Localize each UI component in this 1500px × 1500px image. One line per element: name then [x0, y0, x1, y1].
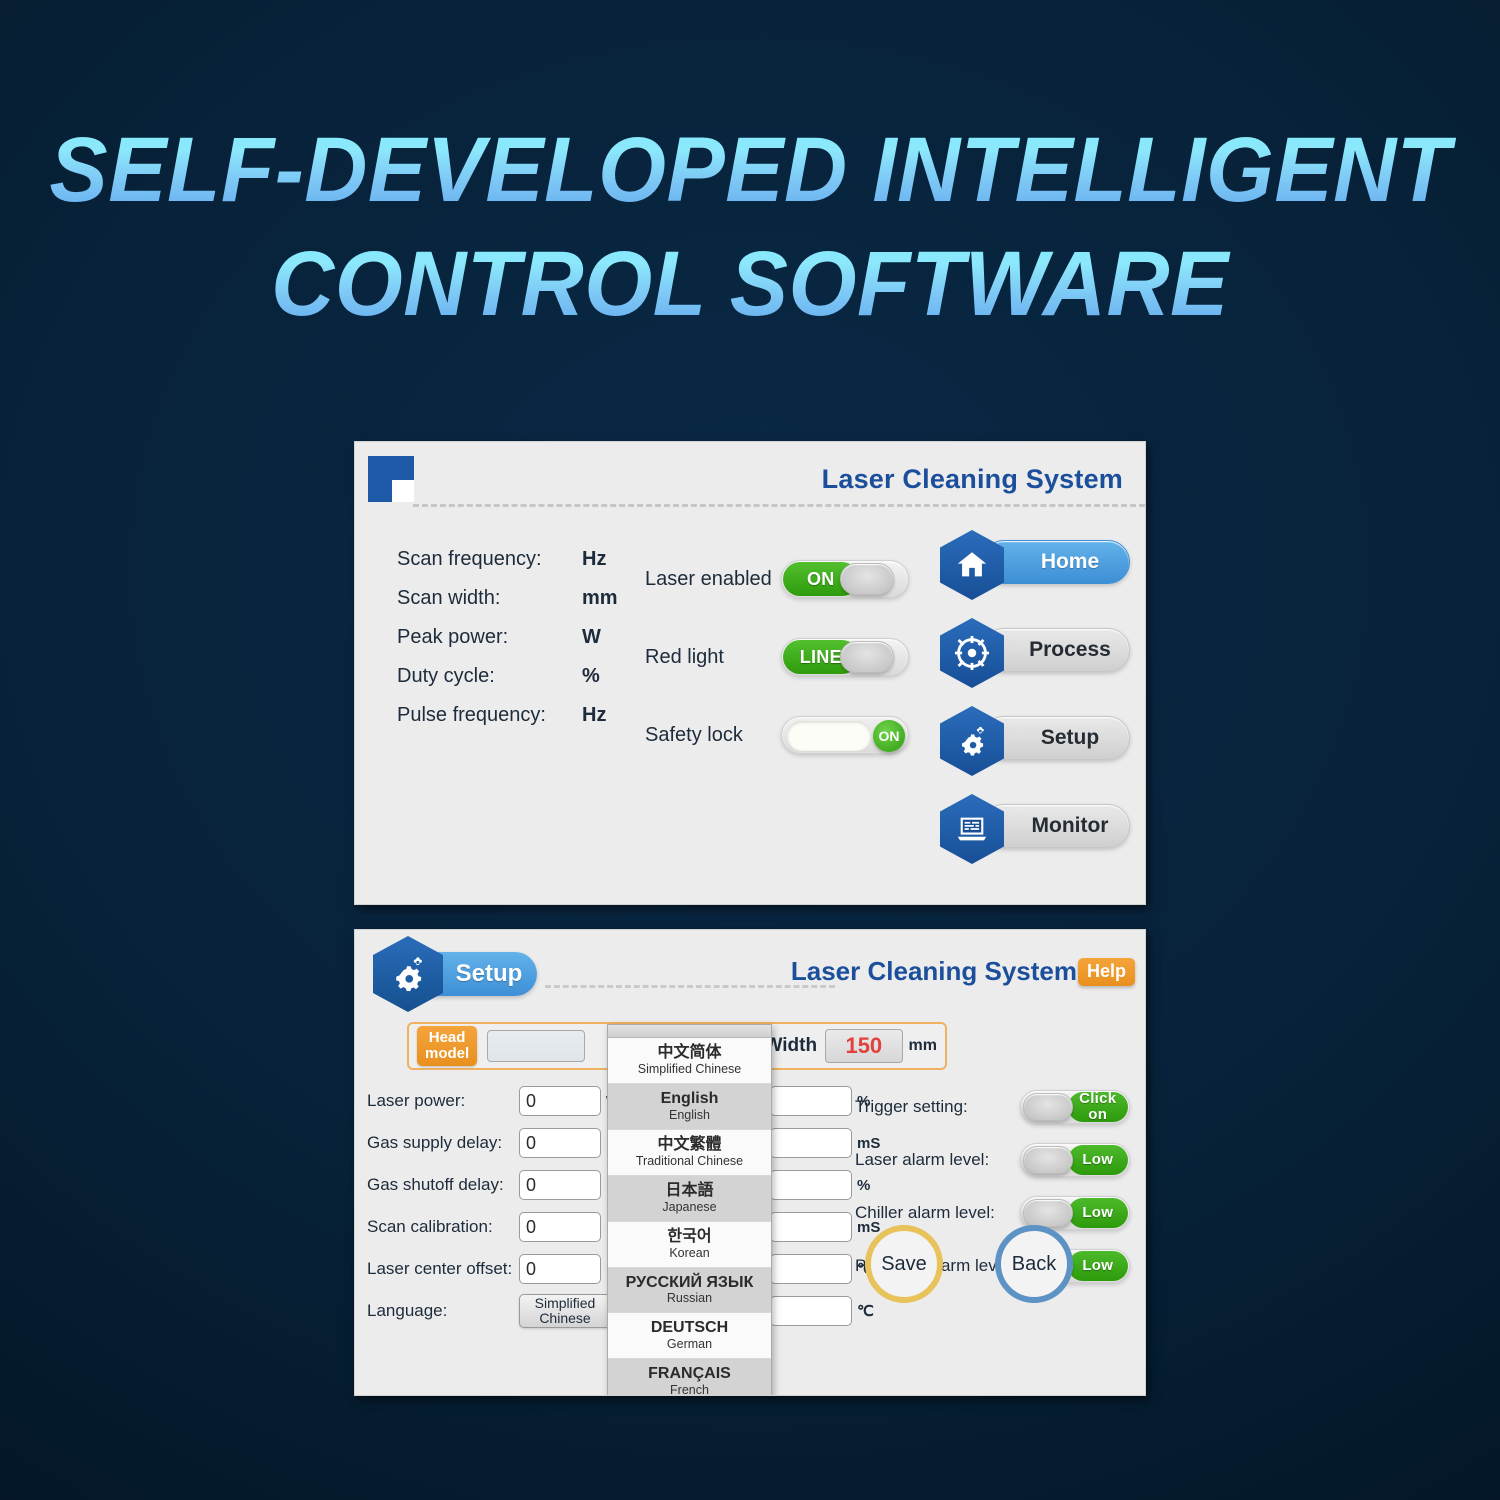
header-divider — [413, 504, 1145, 507]
main-menu: Home Process Setup — [940, 530, 1130, 882]
setup-screen-panel: Setup Laser Cleaning System Help Head mo… — [354, 929, 1146, 1396]
language-option-native: 中文繁體 — [612, 1136, 767, 1154]
switch-list: Laser enabled ON Red light LINE Safety l… — [645, 540, 915, 774]
toggle-state-line2: on — [1088, 1107, 1107, 1123]
laser-center-offset-input[interactable]: 0 — [519, 1254, 601, 1284]
dropdown-scroll-top[interactable] — [608, 1025, 771, 1038]
language-option-english: Korean — [612, 1246, 767, 1260]
width-label: Width — [765, 1035, 818, 1057]
head-model-badge-line2: model — [425, 1045, 469, 1062]
scan-calibration-input[interactable]: 0 — [519, 1212, 601, 1242]
parameter-row: Peak power: W — [397, 618, 677, 657]
language-option-korean[interactable]: 한국어 Korean — [608, 1222, 771, 1268]
language-option-french[interactable]: FRANÇAIS French — [608, 1359, 771, 1396]
language-option-japanese[interactable]: 日本語 Japanese — [608, 1176, 771, 1222]
language-option-native: 中文简体 — [612, 1044, 767, 1062]
headline-line-1: SELF-DEVELOPED INTELLIGENT — [38, 118, 1463, 222]
parameter-label: Peak power: — [397, 626, 582, 649]
mid-input-4[interactable] — [770, 1212, 852, 1242]
brand-logo-icon — [368, 456, 414, 502]
home-panel-body: Scan frequency: Hz Scan width: mm Peak p… — [355, 514, 1145, 905]
parameter-row: Scan frequency: Hz — [397, 540, 677, 579]
toggle-state-label: Low — [1068, 1145, 1128, 1175]
language-option-native: РУССКИЙ ЯЗЫК — [612, 1274, 767, 1292]
gas-supply-delay-input[interactable]: 0 — [519, 1128, 601, 1158]
menu-label-home[interactable]: Home — [982, 540, 1130, 584]
switch-row-safety-lock: Safety lock ON — [645, 696, 915, 774]
toggle-state-label: Low — [1068, 1198, 1128, 1228]
menu-item-setup[interactable]: Setup — [940, 706, 1130, 794]
language-option-english: Simplified Chinese — [612, 1062, 767, 1076]
headline-line-2: CONTROL SOFTWARE — [38, 232, 1463, 336]
parameter-unit: mm — [582, 587, 618, 610]
menu-item-process[interactable]: Process — [940, 618, 1130, 706]
trigger-setting-toggle[interactable]: Click on — [1020, 1090, 1130, 1124]
parameter-row: Duty cycle: % — [397, 657, 677, 696]
toggle-state-label: ON — [873, 720, 905, 752]
language-select-button[interactable]: Simplified Chinese — [519, 1294, 611, 1328]
toggle-knob[interactable] — [840, 563, 894, 595]
language-option-english: German — [612, 1337, 767, 1351]
head-model-badge: Head model — [417, 1026, 477, 1066]
menu-item-monitor[interactable]: Monitor — [940, 794, 1130, 882]
laser-alarm-level-toggle[interactable]: Low — [1020, 1143, 1130, 1177]
gas-shutoff-delay-input[interactable]: 0 — [519, 1170, 601, 1200]
language-option-native: English — [612, 1090, 767, 1108]
width-unit: mm — [909, 1037, 937, 1055]
language-select-line2: Chinese — [539, 1311, 590, 1326]
parameter-row: Pulse frequency: Hz — [397, 696, 677, 735]
parameter-unit: Hz — [582, 548, 606, 571]
language-option-english: Japanese — [612, 1200, 767, 1214]
switch-row-red-light: Red light LINE — [645, 618, 915, 696]
mid-unit-6: ℃ — [857, 1302, 874, 1320]
field-label: Trigger setting: — [855, 1097, 1020, 1117]
menu-item-home[interactable]: Home — [940, 530, 1130, 618]
parameter-label: Scan width: — [397, 587, 582, 610]
toggle-track — [787, 721, 871, 751]
language-option-native: FRANÇAIS — [612, 1365, 767, 1383]
mid-input-2[interactable] — [770, 1128, 852, 1158]
back-button[interactable]: Back — [995, 1225, 1073, 1303]
language-option-native: 한국어 — [612, 1228, 767, 1246]
field-label: Gas supply delay: — [367, 1133, 519, 1153]
parameter-label: Duty cycle: — [397, 665, 582, 688]
menu-label-setup[interactable]: Setup — [982, 716, 1130, 760]
field-label: Laser center offset: — [367, 1259, 519, 1279]
home-screen-panel: Laser Cleaning System Scan frequency: Hz… — [354, 441, 1146, 905]
field-label: Chiller alarm level: — [855, 1203, 1020, 1223]
laser-power-input[interactable]: 0 — [519, 1086, 601, 1116]
field-row-trigger-setting: Trigger setting: Click on — [855, 1080, 1145, 1133]
language-option-english: Russian — [612, 1291, 767, 1305]
setup-system-title: Laser Cleaning System — [791, 956, 1077, 987]
gears-icon — [373, 936, 443, 1012]
mid-input-1[interactable] — [770, 1086, 852, 1116]
gears-icon — [940, 706, 1004, 776]
atom-icon — [940, 618, 1004, 688]
toggle-knob[interactable] — [840, 641, 894, 673]
parameter-unit: % — [582, 665, 600, 688]
language-option-russian[interactable]: РУССКИЙ ЯЗЫК Russian — [608, 1268, 771, 1314]
mid-input-5[interactable] — [770, 1254, 852, 1284]
language-option-native: DEUTSCH — [612, 1319, 767, 1337]
home-panel-header: Laser Cleaning System — [355, 442, 1145, 514]
language-option-english: English — [612, 1108, 767, 1122]
red-light-toggle[interactable]: LINE — [781, 638, 909, 676]
language-option-traditional-chinese[interactable]: 中文繁體 Traditional Chinese — [608, 1130, 771, 1176]
toggle-state-label: Click on — [1068, 1092, 1128, 1122]
menu-label-process[interactable]: Process — [982, 628, 1130, 672]
mid-input-3[interactable] — [770, 1170, 852, 1200]
language-option-native: 日本語 — [612, 1182, 767, 1200]
switch-label: Red light — [645, 646, 781, 669]
width-input[interactable]: 150 — [825, 1029, 902, 1063]
switch-label: Laser enabled — [645, 568, 781, 591]
parameter-row: Scan width: mm — [397, 579, 677, 618]
parameter-label: Scan frequency: — [397, 548, 582, 571]
field-label: Language: — [367, 1301, 519, 1321]
parameter-unit: W — [582, 626, 601, 649]
home-system-title: Laser Cleaning System — [822, 464, 1123, 495]
parameter-list: Scan frequency: Hz Scan width: mm Peak p… — [397, 540, 677, 735]
language-option-english[interactable]: English English — [608, 1084, 771, 1130]
language-option-english: Traditional Chinese — [612, 1154, 767, 1168]
switch-label: Safety lock — [645, 724, 781, 747]
home-icon — [940, 530, 1004, 600]
field-row-laser-alarm-level: Laser alarm level: Low — [855, 1133, 1145, 1186]
field-label: Scan calibration: — [367, 1217, 519, 1237]
head-model-badge-line1: Head — [429, 1029, 466, 1046]
language-select-line1: Simplified — [535, 1296, 596, 1311]
menu-label-monitor[interactable]: Monitor — [982, 804, 1130, 848]
field-label: Laser alarm level: — [855, 1150, 1020, 1170]
parameter-unit: Hz — [582, 704, 606, 727]
language-option-german[interactable]: DEUTSCH German — [608, 1313, 771, 1359]
switch-row-laser-enabled: Laser enabled ON — [645, 540, 915, 618]
toggle-knob[interactable] — [1023, 1199, 1073, 1227]
toggle-knob[interactable] — [1023, 1093, 1073, 1121]
field-label: Gas shutoff delay: — [367, 1175, 519, 1195]
safety-lock-toggle[interactable]: ON — [781, 716, 909, 754]
language-option-simplified-chinese[interactable]: 中文简体 Simplified Chinese — [608, 1038, 771, 1084]
parameter-label: Pulse frequency: — [397, 704, 582, 727]
field-row-mid: ℃ — [770, 1290, 900, 1332]
save-button[interactable]: Save — [865, 1225, 943, 1303]
mid-input-6[interactable] — [770, 1296, 852, 1326]
head-model-field[interactable] — [487, 1030, 584, 1062]
laptop-icon — [940, 794, 1004, 864]
toggle-state-line1: Click — [1079, 1091, 1116, 1107]
setup-panel-body: Setup Laser Cleaning System Help Head mo… — [355, 930, 1145, 1325]
laser-enabled-toggle[interactable]: ON — [781, 560, 909, 598]
help-button[interactable]: Help — [1078, 958, 1135, 986]
field-label: Laser power: — [367, 1091, 519, 1111]
toggle-state-label: Low — [1068, 1251, 1128, 1281]
toggle-knob[interactable] — [1023, 1146, 1073, 1174]
language-option-english: French — [612, 1383, 767, 1396]
page-headline: SELF-DEVELOPED INTELLIGENT CONTROL SOFTW… — [0, 118, 1500, 336]
language-dropdown[interactable]: 中文简体 Simplified Chinese English English … — [607, 1024, 772, 1396]
